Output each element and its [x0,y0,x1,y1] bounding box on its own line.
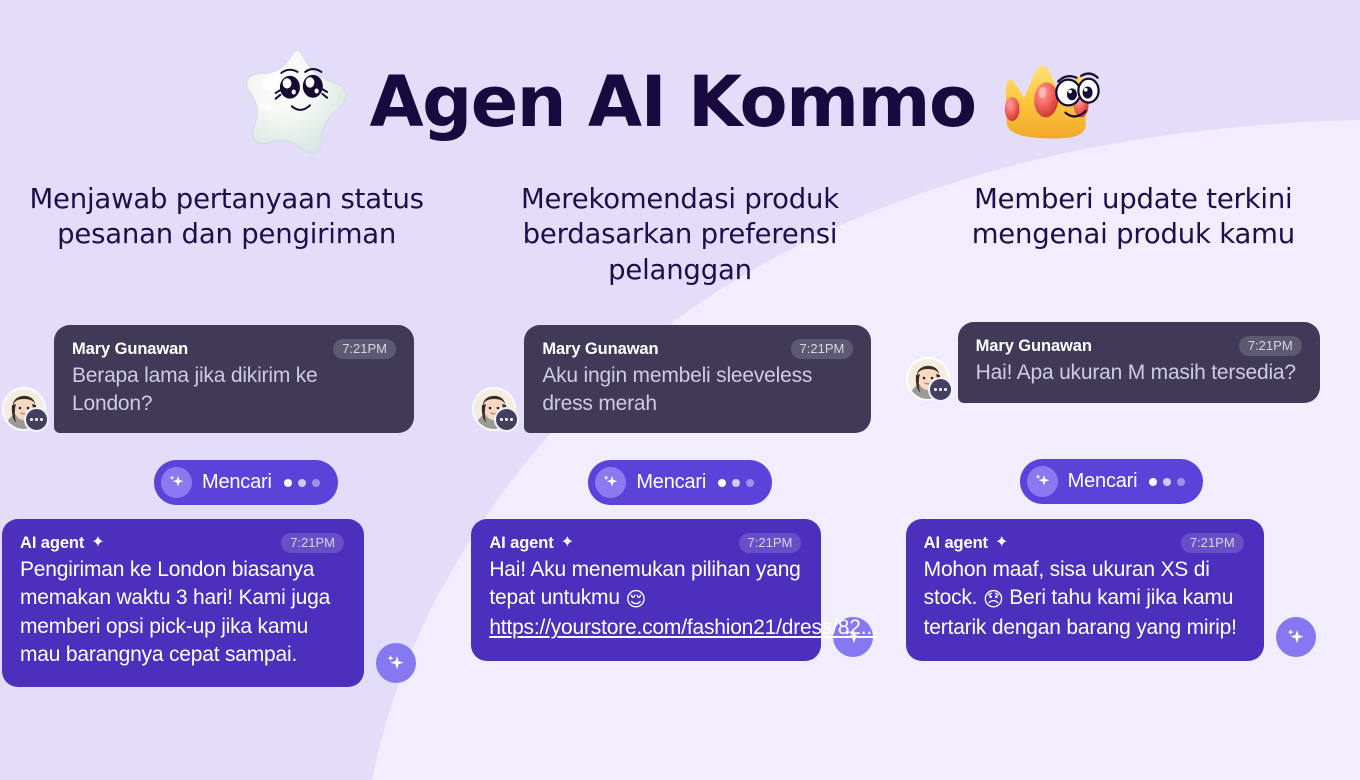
column-heading-2: Merekomendasi produk berdasarkan prefere… [453,182,906,288]
sparkle-icon: ✦ [995,535,1008,551]
typing-dots-icon [284,479,320,487]
avatar [474,389,514,429]
column-product-recommendation: Merekomendasi produk berdasarkan prefere… [453,182,906,780]
bubble-header: Mary Gunawan 7:21PM [976,336,1302,356]
page-title: Agen AI Kommo [369,67,975,137]
bubble-header: AI agent ✦ 7:21PM [20,533,344,553]
searching-status-pill-1[interactable]: Mencari [154,460,338,505]
sparkle-icon [161,467,192,498]
ai-message-row-2: AI agent ✦ 7:21PM Hai! Aku menemukan pil… [471,519,873,661]
ai-message-text: Hai! Aku menemukan pilihan yang tepat un… [489,556,801,643]
status-pill-label: Mencari [202,471,272,494]
page-header: Agen AI Kommo [0,22,1360,182]
sparkle-avatar-icon [376,643,416,683]
typing-dots-icon [718,479,754,487]
searching-status-pill-3[interactable]: Mencari [1020,459,1204,504]
bubble-header: Mary Gunawan 7:21PM [542,339,853,359]
column-product-updates: Memberi update terkini mengenai produk k… [907,182,1360,780]
timestamp-badge: 7:21PM [281,533,344,553]
bubble-header: AI agent ✦ 7:21PM [924,533,1244,553]
chat-dots-icon [928,377,953,402]
ai-sender-name: AI agent ✦ [20,534,105,553]
ai-message-bubble-1: AI agent ✦ 7:21PM Pengiriman ke London b… [2,519,364,687]
user-message-bubble-3: Mary Gunawan 7:21PM Hai! Apa ukuran M ma… [958,322,1320,403]
sparkle-icon: ✦ [561,535,574,551]
status-pill-label: Mencari [636,471,706,494]
timestamp-badge: 7:21PM [739,533,802,553]
ai-message-bubble-3: AI agent ✦ 7:21PM Mohon maaf, sisa ukura… [906,519,1264,661]
user-message-bubble-2: Mary Gunawan 7:21PM Aku ingin membeli sl… [524,325,871,433]
bubble-header: Mary Gunawan 7:21PM [72,339,396,359]
ai-message-row-3: AI agent ✦ 7:21PM Mohon maaf, sisa ukura… [906,519,1316,661]
ai-message-row-1: AI agent ✦ 7:21PM Pengiriman ke London b… [2,519,416,687]
searching-status-pill-2[interactable]: Mencari [588,460,772,505]
timestamp-badge: 7:21PM [791,339,854,359]
column-order-status: Menjawab pertanyaan status pesanan dan p… [0,182,453,780]
disappointed-face-emoji: 😞 [983,589,1004,611]
status-pill-label: Mencari [1068,470,1138,493]
bubble-header: AI agent ✦ 7:21PM [489,533,801,553]
timestamp-badge: 7:21PM [1181,533,1244,553]
avatar [908,359,948,399]
user-message-text: Hai! Apa ukuran M masih tersedia? [976,359,1302,387]
sparkle-icon [595,467,626,498]
crown-face-emoji [994,52,1114,152]
chat-dots-icon [24,407,49,432]
sender-name: Mary Gunawan [976,337,1092,356]
ai-sender-name: AI agent ✦ [489,534,574,553]
timestamp-badge: 7:21PM [1239,336,1302,356]
ai-message-bubble-2: AI agent ✦ 7:21PM Hai! Aku menemukan pil… [471,519,821,661]
status-pill-row-2: Mencari [588,460,772,505]
relieved-face-emoji: 😌 [625,589,646,611]
ai-message-text: Pengiriman ke London biasanya memakan wa… [20,556,344,669]
ai-message-text: Mohon maaf, sisa ukuran XS di stock. 😞 B… [924,556,1244,643]
sender-name: Mary Gunawan [72,340,188,359]
star-face-emoji [246,47,351,157]
avatar [4,389,44,429]
column-heading-1: Menjawab pertanyaan status pesanan dan p… [0,182,453,253]
user-message-text: Aku ingin membeli sleeveless dress merah [542,362,853,417]
sender-name: Mary Gunawan [542,340,658,359]
typing-dots-icon [1149,478,1185,486]
ai-sender-name: AI agent ✦ [924,534,1009,553]
chat-dots-icon [494,407,519,432]
sparkle-icon: ✦ [91,535,104,551]
product-link[interactable]: https://yourstore.com/fashion21/dress/82… [489,616,877,639]
poster-canvas: Agen AI Kommo [0,0,1360,780]
sparkle-avatar-icon [1276,617,1316,657]
sparkle-icon [1027,466,1058,497]
columns-container: Menjawab pertanyaan status pesanan dan p… [0,182,1360,780]
status-pill-row-1: Mencari [154,460,338,505]
user-message-bubble-1: Mary Gunawan 7:21PM Berapa lama jika dik… [54,325,414,433]
timestamp-badge: 7:21PM [333,339,396,359]
user-message-text: Berapa lama jika dikirim ke London? [72,362,396,417]
status-pill-row-3: Mencari [1020,459,1204,504]
user-message-row-1: Mary Gunawan 7:21PM Berapa lama jika dik… [4,325,414,433]
user-message-row-3: Mary Gunawan 7:21PM Hai! Apa ukuran M ma… [908,322,1320,403]
user-message-row-2: Mary Gunawan 7:21PM Aku ingin membeli sl… [474,325,871,433]
column-heading-3: Memberi update terkini mengenai produk k… [907,182,1360,253]
